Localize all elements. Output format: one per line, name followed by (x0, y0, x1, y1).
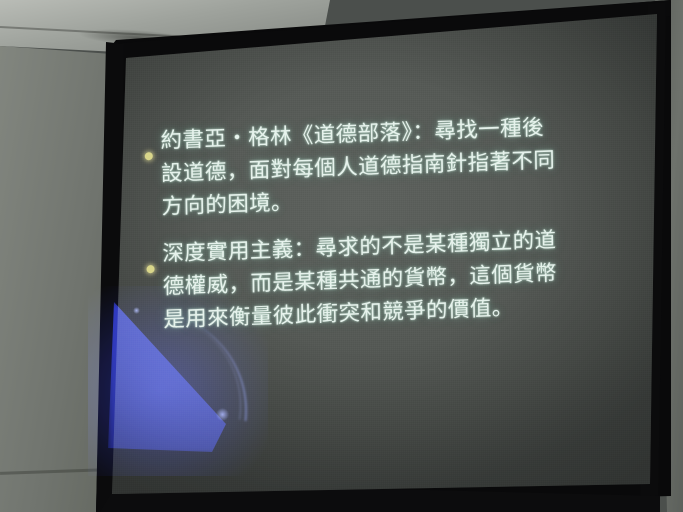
projection-screen-photo: 約書亞・格林《道德部落》：尋找一種後設道德，面對每個人道德指南針指著不同方向的困… (0, 0, 683, 512)
laser-flare-dot-upper (133, 307, 140, 314)
bullet-text: 深度實用主義：尋求的不是某種獨立的道德權威，而是某種共通的貨幣，這個貨幣是用來衡… (146, 224, 567, 338)
laser-flare-dot-lower (216, 408, 229, 421)
bullet-text: 約書亞・格林《道德部落》：尋找一種後設道德，面對每個人道德指南針指著不同方向的困… (144, 111, 565, 225)
left-wall-seam (0, 468, 110, 475)
list-item: 深度實用主義：尋求的不是某種獨立的道德權威，而是某種共通的貨幣，這個貨幣是用來衡… (146, 224, 567, 338)
list-item: 約書亞・格林《道德部落》：尋找一種後設道德，面對每個人道德指南針指著不同方向的困… (144, 111, 565, 225)
slide-content: 約書亞・格林《道德部落》：尋找一種後設道德，面對每個人道德指南針指著不同方向的困… (144, 115, 567, 348)
